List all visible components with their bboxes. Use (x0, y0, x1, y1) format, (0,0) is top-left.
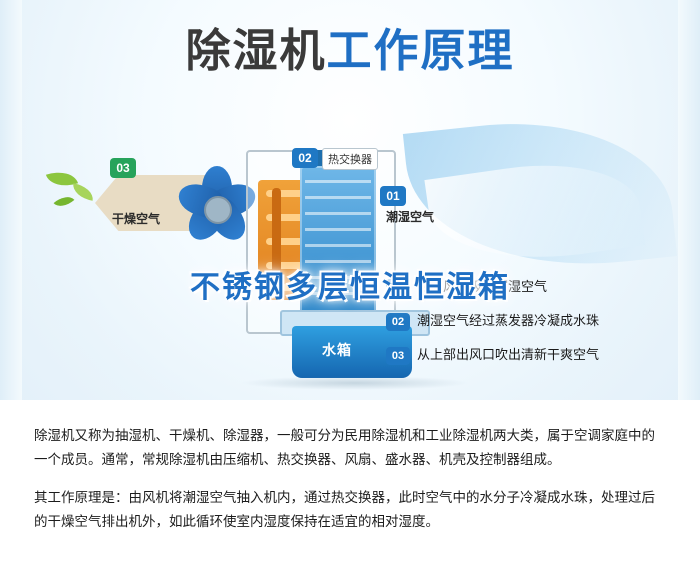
evaporator-fin (305, 196, 371, 199)
evaporator-fin (305, 212, 371, 215)
caption-line-2: 02潮湿空气经过蒸发器冷凝成水珠 (386, 310, 599, 331)
dry-air-label: 干燥空气 (112, 210, 160, 227)
diagram-illustration: 除湿机工作原理 干燥空气 03 (0, 0, 700, 400)
heat-exchanger-label: 热交换器 (322, 148, 378, 170)
step-badge-01: 01 (380, 186, 406, 206)
leaf-icon (71, 183, 95, 201)
title-dark-part: 除湿机 (185, 25, 326, 76)
caption-text-02: 潮湿空气经过蒸发器冷凝成水珠 (417, 313, 599, 328)
title-blue-part: 工作原理 (327, 25, 515, 76)
base-shadow (240, 376, 470, 390)
description-paragraph-2: 其工作原理是：由风机将潮湿空气抽入机内，通过热交换器，此时空气中的水分子冷凝成水… (34, 486, 666, 534)
leaf-icon (54, 192, 75, 212)
caption-badge-02: 02 (386, 313, 410, 331)
water-tank-label: 水箱 (322, 340, 352, 360)
evaporator-fin (305, 244, 371, 247)
evaporator-fin (305, 228, 371, 231)
fan-hub (204, 196, 232, 224)
caption-badge-03: 03 (386, 347, 410, 365)
page-root: 除湿机工作原理 干燥空气 03 (0, 0, 700, 566)
evaporator-fin (305, 180, 371, 183)
wet-air-label: 潮湿空气 (386, 208, 434, 225)
caption-text-03: 从上部出风口吹出清新干爽空气 (417, 347, 599, 362)
watermark-text: 不锈钢多层恒温恒湿箱 (0, 262, 700, 306)
description-block: 除湿机又称为抽湿机、干燥机、除湿器，一般可分为民用除湿机和工业除湿机两大类，属于… (0, 400, 700, 566)
step-badge-03: 03 (110, 158, 136, 178)
step-badge-02: 02 (292, 148, 318, 168)
caption-line-3: 03从上部出风口吹出清新干爽空气 (386, 344, 599, 365)
page-title: 除湿机工作原理 (0, 28, 700, 73)
description-paragraph-1: 除湿机又称为抽湿机、干燥机、除湿器，一般可分为民用除湿机和工业除湿机两大类，属于… (34, 424, 666, 472)
